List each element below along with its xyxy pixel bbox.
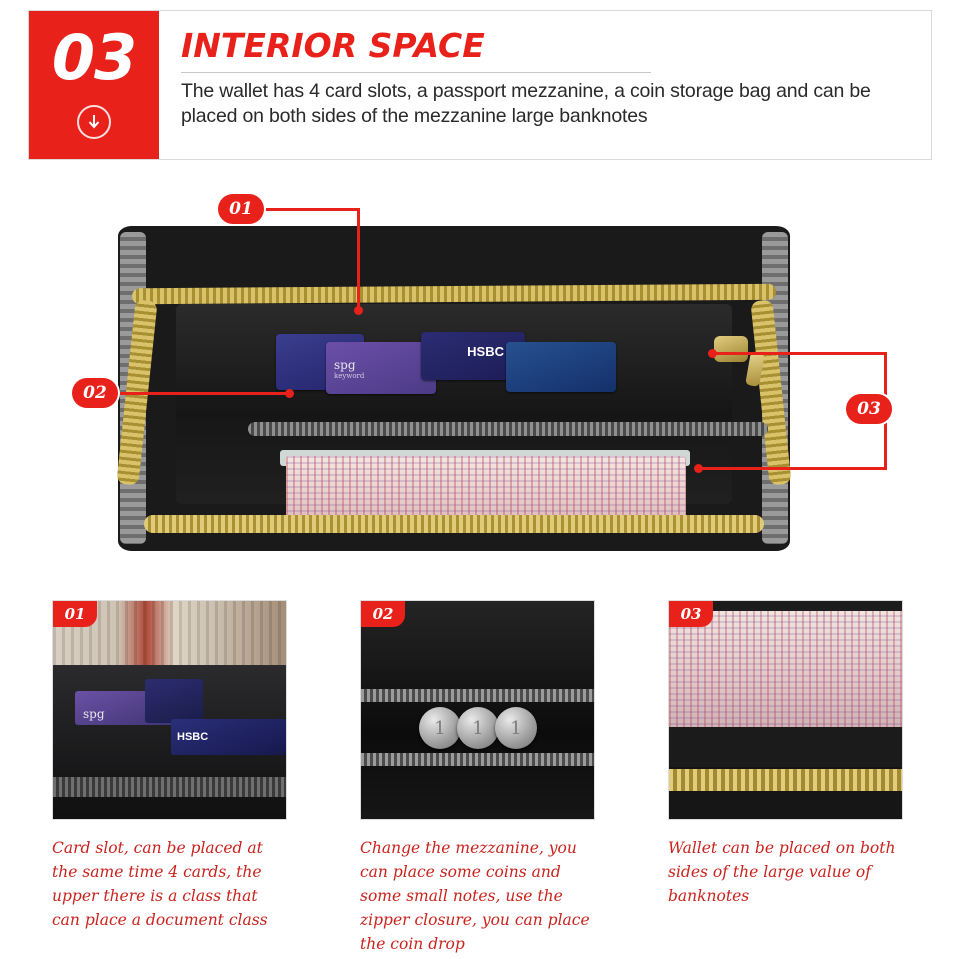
wallet-bottom-zipper — [144, 515, 764, 533]
panel-01-card-hsbc-label: HSBC — [177, 731, 208, 743]
callout-03-leader-upper — [714, 352, 886, 355]
coin-pocket-zipper — [248, 422, 768, 436]
panel-03-bottom-edge — [669, 791, 902, 820]
panel-badge-01: 01 — [53, 601, 97, 627]
coin-1 — [419, 707, 461, 749]
section-number: 03 — [52, 27, 136, 89]
title-divider — [181, 72, 651, 73]
section-header: 03 INTERIOR SPACE The wallet has 4 card … — [28, 10, 932, 160]
panel-02-zipper-bottom — [361, 753, 594, 766]
panel-03-leather — [669, 727, 902, 767]
callout-marker-03: 03 — [846, 394, 892, 424]
callout-01-leader-vertical — [357, 208, 360, 310]
panel-02-zipper-top — [361, 689, 594, 702]
detail-panel-03: 03 Wallet can be placed on both sides of… — [668, 600, 903, 908]
zipper-pull — [714, 336, 748, 362]
callout-02-label: 02 — [83, 383, 107, 403]
callout-marker-02: 02 — [72, 378, 118, 408]
banknote-primary — [286, 456, 686, 524]
interior-card-2: spg keyword — [326, 342, 436, 394]
panel-03-zipper — [669, 769, 902, 791]
panel-01-card-hsbc: HSBC — [171, 719, 287, 755]
detail-panel-02-image: 02 — [360, 600, 595, 820]
detail-panel-03-image: 03 — [668, 600, 903, 820]
panel-01-zipper — [53, 777, 286, 797]
wallet-interior: spg keyword HSBC — [176, 304, 732, 504]
callout-03-lower-dot — [694, 464, 703, 473]
panel-01-caption: Card slot, can be placed at the same tim… — [52, 836, 285, 932]
card-brand-label: spg — [334, 358, 356, 372]
detail-panel-02: 02 Change the mezzanine, you can place s… — [360, 600, 595, 956]
card-brand-sublabel: keyword — [334, 372, 364, 380]
callout-03-label: 03 — [857, 399, 881, 419]
panel-01-card-spg-label: spg — [83, 707, 105, 721]
detail-panel-01-image: spg HSBC 01 — [52, 600, 287, 820]
panel-02-caption: Change the mezzanine, you can place some… — [360, 836, 593, 956]
callout-03-upper-dot — [708, 349, 717, 358]
card-brand-hsbc-label: HSBC — [467, 344, 504, 359]
coin-2 — [457, 707, 499, 749]
callout-01-label: 01 — [229, 199, 253, 219]
panel-03-caption: Wallet can be placed on both sides of th… — [668, 836, 901, 908]
wallet-illustration: spg keyword HSBC — [118, 226, 790, 551]
panel-badge-03: 03 — [669, 601, 713, 627]
detail-panel-01: spg HSBC 01 Card slot, can be placed at … — [52, 600, 287, 932]
card-brand-spg: spg keyword — [334, 358, 364, 380]
panel-badge-02: 02 — [361, 601, 405, 627]
callout-01-leader-horizontal — [264, 208, 360, 211]
callout-02-leader-horizontal — [118, 392, 290, 395]
section-description: The wallet has 4 card slots, a passport … — [181, 79, 891, 129]
coin-3 — [495, 707, 537, 749]
callout-marker-01: 01 — [218, 194, 264, 224]
section-number-block: 03 — [29, 11, 159, 159]
panel-03-banknote — [669, 611, 902, 731]
callout-01-endpoint-dot — [354, 306, 363, 315]
page-title: INTERIOR SPACE — [181, 29, 923, 62]
panel-01-card-blue — [145, 679, 203, 723]
callout-02-endpoint-dot — [285, 389, 294, 398]
interior-card-4 — [506, 342, 616, 392]
down-arrow-icon — [77, 105, 111, 139]
section-header-body: INTERIOR SPACE The wallet has 4 card slo… — [181, 11, 923, 159]
main-product-photo: spg keyword HSBC 01 02 03 — [0, 168, 960, 578]
callout-03-leader-lower — [700, 467, 886, 470]
